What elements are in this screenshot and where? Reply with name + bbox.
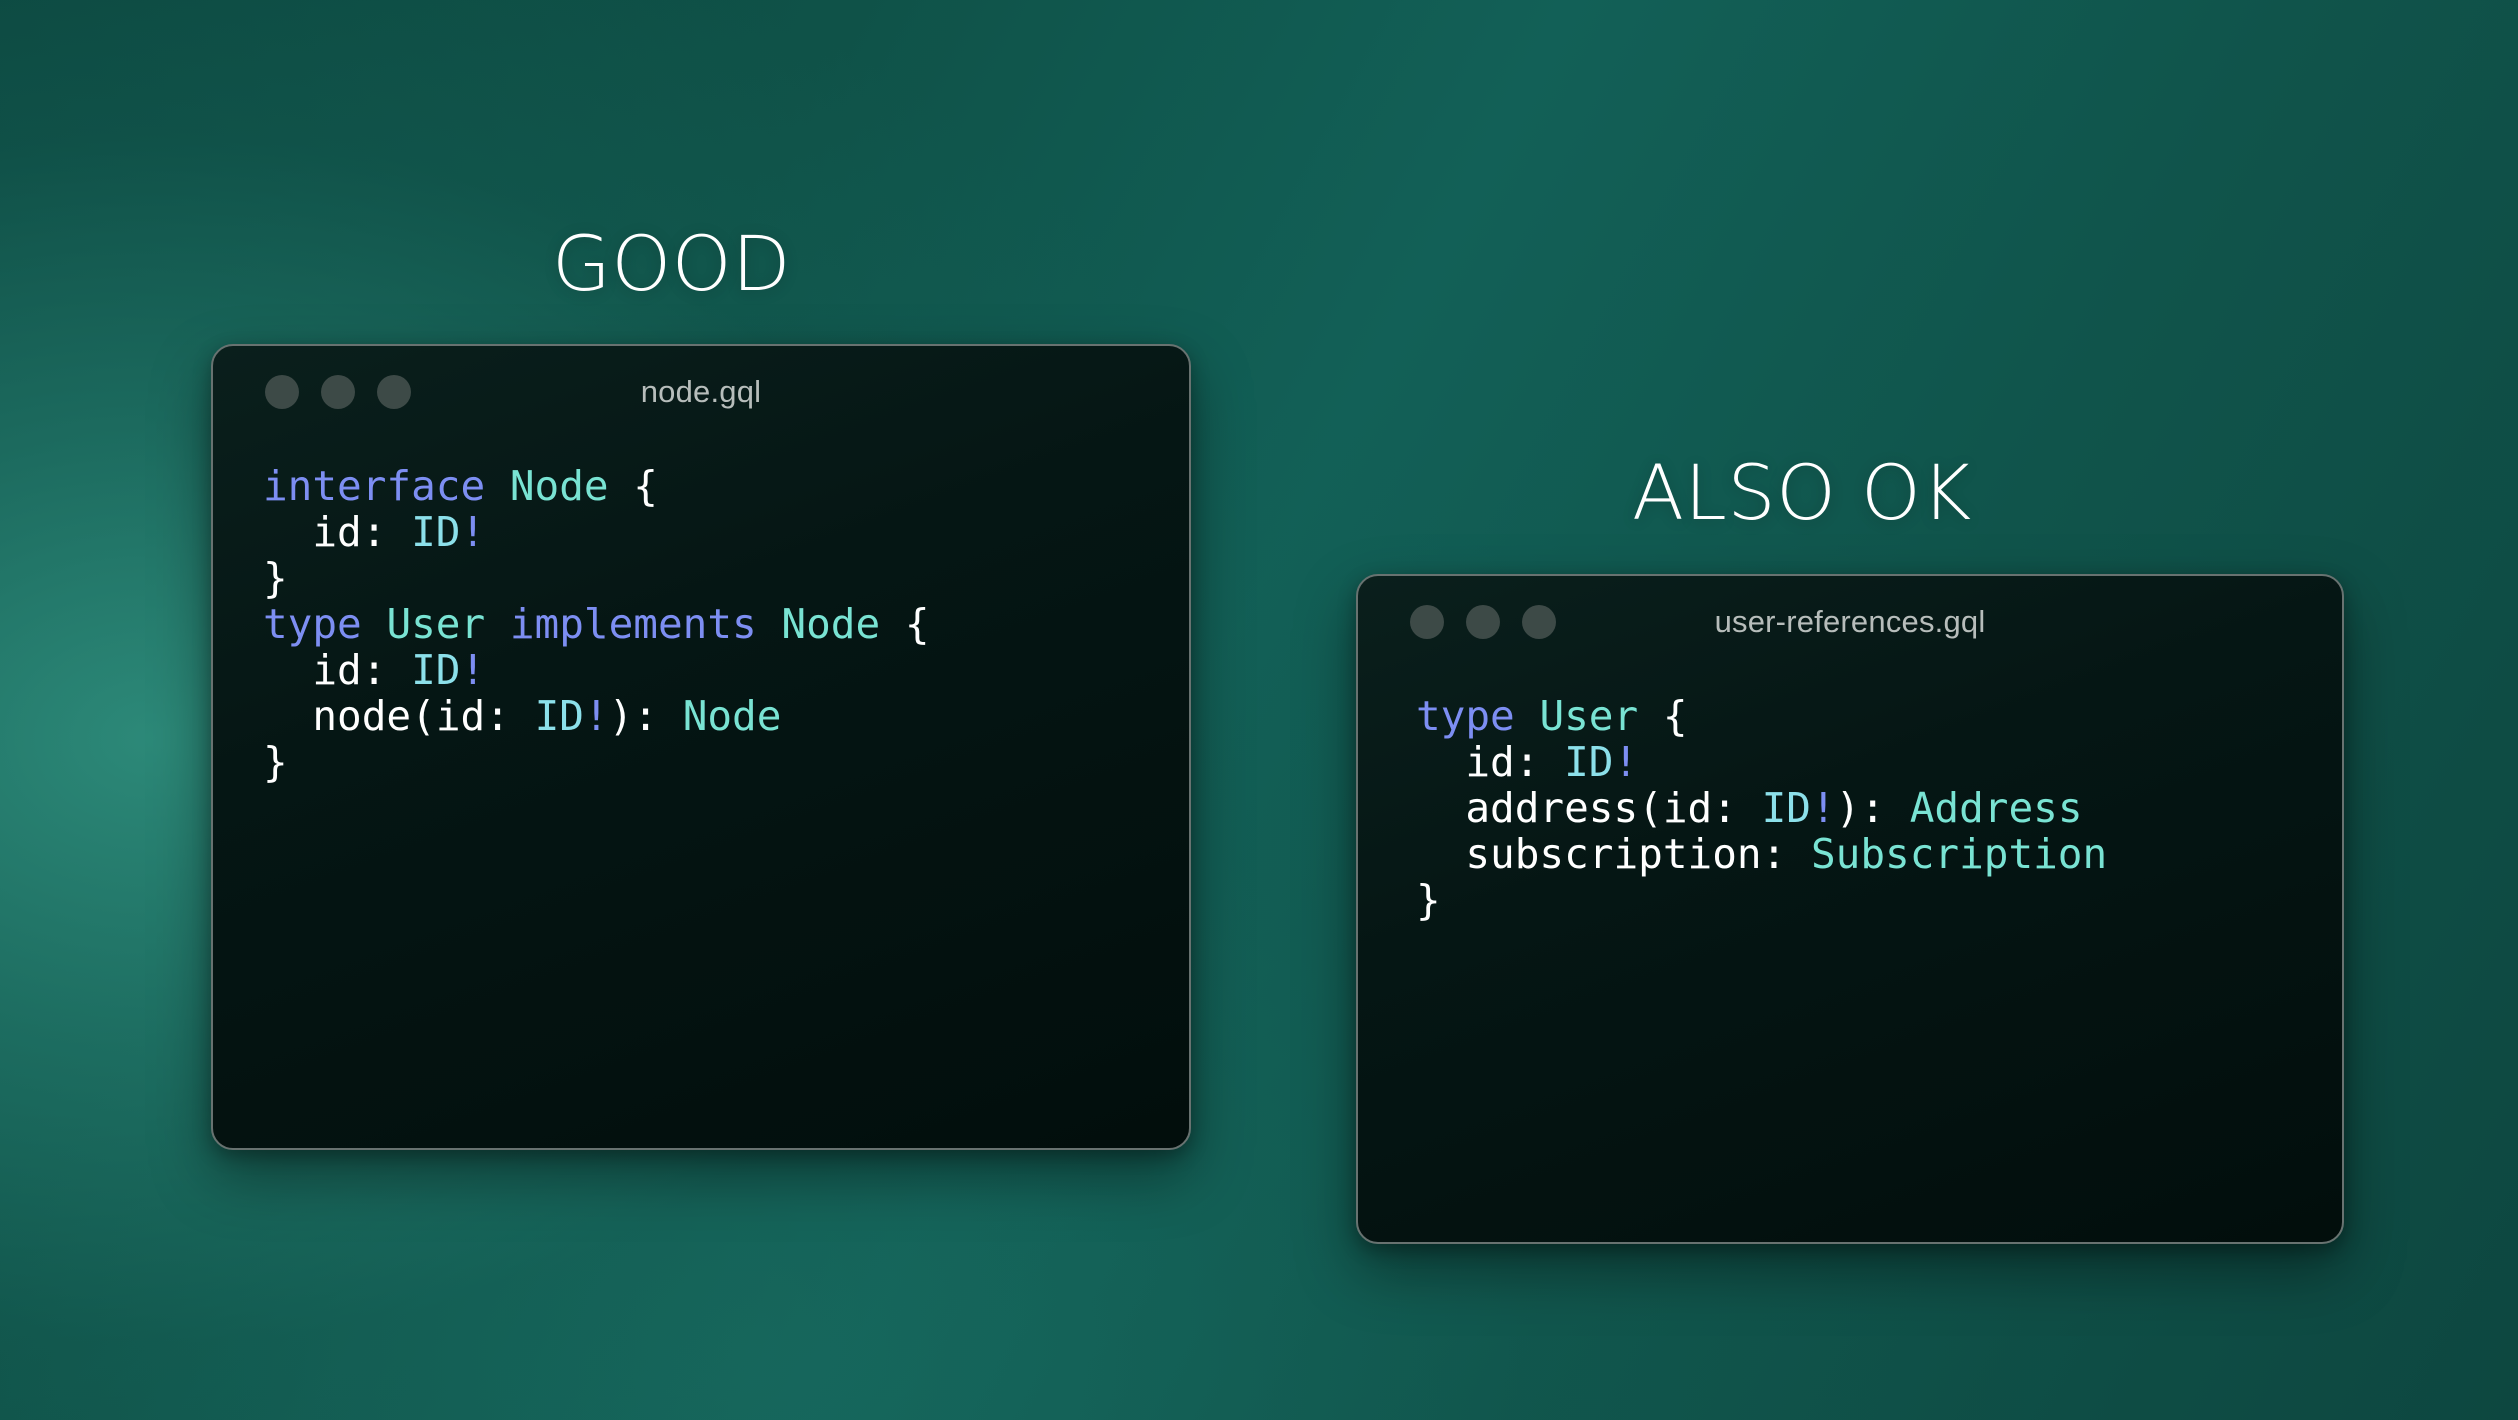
minimize-dot[interactable] bbox=[1466, 605, 1500, 639]
code-token-field: node bbox=[312, 692, 411, 740]
code-token-punct bbox=[263, 646, 312, 694]
code-token-punct bbox=[757, 600, 782, 648]
code-token-punct bbox=[1416, 738, 1465, 786]
code-token-punct: : bbox=[1712, 784, 1761, 832]
code-token-kw: type bbox=[1416, 692, 1515, 740]
code-token-punct: { bbox=[1638, 692, 1687, 740]
code-token-punct: } bbox=[263, 554, 288, 602]
code-token-field: id bbox=[1465, 738, 1514, 786]
code-token-scalar: ID bbox=[411, 508, 460, 556]
code-token-punct: ): bbox=[1836, 784, 1910, 832]
code-token-kw: implements bbox=[510, 600, 757, 648]
code-token-punct: : bbox=[1762, 830, 1811, 878]
code-token-field: id bbox=[1663, 784, 1712, 832]
heading-also-ok: ALSO OK bbox=[1632, 455, 1972, 531]
code-token-field: address bbox=[1465, 784, 1638, 832]
code-token-punct: ): bbox=[609, 692, 683, 740]
code-line: type User { bbox=[1416, 694, 2342, 740]
code-line: node(id: ID!): Node bbox=[263, 694, 1189, 740]
code-block-good: interface Node { id: ID!}type User imple… bbox=[213, 438, 1189, 786]
code-token-bang: ! bbox=[584, 692, 609, 740]
code-token-punct: : bbox=[1515, 738, 1564, 786]
code-token-bang: ! bbox=[461, 508, 486, 556]
code-token-punct bbox=[485, 600, 510, 648]
code-line: interface Node { bbox=[263, 464, 1189, 510]
code-token-field: subscription bbox=[1465, 830, 1761, 878]
close-dot[interactable] bbox=[265, 375, 299, 409]
code-token-scalar: ID bbox=[411, 646, 460, 694]
code-token-type: Subscription bbox=[1811, 830, 2107, 878]
code-token-punct: : bbox=[485, 692, 534, 740]
code-token-type: Node bbox=[510, 462, 609, 510]
code-token-punct: { bbox=[609, 462, 658, 510]
code-line: } bbox=[263, 740, 1189, 786]
code-token-kw: interface bbox=[263, 462, 485, 510]
code-window-also-ok: user-references.gql type User { id: ID! … bbox=[1356, 574, 2344, 1244]
code-line: id: ID! bbox=[263, 648, 1189, 694]
code-token-punct: : bbox=[362, 646, 411, 694]
minimize-dot[interactable] bbox=[321, 375, 355, 409]
close-dot[interactable] bbox=[1410, 605, 1444, 639]
traffic-light-dots bbox=[1410, 605, 1556, 639]
code-line: } bbox=[263, 556, 1189, 602]
code-token-bang: ! bbox=[1614, 738, 1639, 786]
maximize-dot[interactable] bbox=[1522, 605, 1556, 639]
window-titlebar: user-references.gql bbox=[1358, 576, 2342, 668]
code-line: address(id: ID!): Address bbox=[1416, 786, 2342, 832]
code-token-punct bbox=[362, 600, 387, 648]
code-token-type: Node bbox=[781, 600, 880, 648]
code-token-punct bbox=[485, 462, 510, 510]
code-token-field: id bbox=[312, 508, 361, 556]
code-token-type: User bbox=[386, 600, 485, 648]
code-token-punct: { bbox=[880, 600, 929, 648]
code-token-punct: } bbox=[263, 738, 288, 786]
code-token-punct bbox=[263, 508, 312, 556]
code-token-type: User bbox=[1539, 692, 1638, 740]
code-token-punct bbox=[1416, 784, 1465, 832]
code-token-scalar: ID bbox=[1564, 738, 1613, 786]
code-line: type User implements Node { bbox=[263, 602, 1189, 648]
window-titlebar: node.gql bbox=[213, 346, 1189, 438]
slide-canvas: GOOD node.gql interface Node { id: ID!}t… bbox=[0, 0, 2518, 1420]
code-token-punct: ( bbox=[1638, 784, 1663, 832]
code-token-bang: ! bbox=[461, 646, 486, 694]
code-token-punct: ( bbox=[411, 692, 436, 740]
code-line: subscription: Subscription bbox=[1416, 832, 2342, 878]
code-token-punct: : bbox=[362, 508, 411, 556]
code-token-field: id bbox=[436, 692, 485, 740]
code-token-bang: ! bbox=[1811, 784, 1836, 832]
code-token-kw: type bbox=[263, 600, 362, 648]
code-line: } bbox=[1416, 878, 2342, 924]
code-token-field: id bbox=[312, 646, 361, 694]
code-token-type: Node bbox=[683, 692, 782, 740]
code-token-punct bbox=[1416, 830, 1465, 878]
code-token-punct: } bbox=[1416, 876, 1441, 924]
code-token-type: Address bbox=[1910, 784, 2083, 832]
code-token-punct bbox=[1515, 692, 1540, 740]
code-block-also-ok: type User { id: ID! address(id: ID!): Ad… bbox=[1358, 668, 2342, 924]
traffic-light-dots bbox=[265, 375, 411, 409]
heading-good: GOOD bbox=[552, 226, 791, 302]
code-token-scalar: ID bbox=[535, 692, 584, 740]
code-window-good: node.gql interface Node { id: ID!}type U… bbox=[211, 344, 1191, 1150]
maximize-dot[interactable] bbox=[377, 375, 411, 409]
code-token-scalar: ID bbox=[1762, 784, 1811, 832]
code-line: id: ID! bbox=[1416, 740, 2342, 786]
code-token-punct bbox=[263, 692, 312, 740]
code-line: id: ID! bbox=[263, 510, 1189, 556]
